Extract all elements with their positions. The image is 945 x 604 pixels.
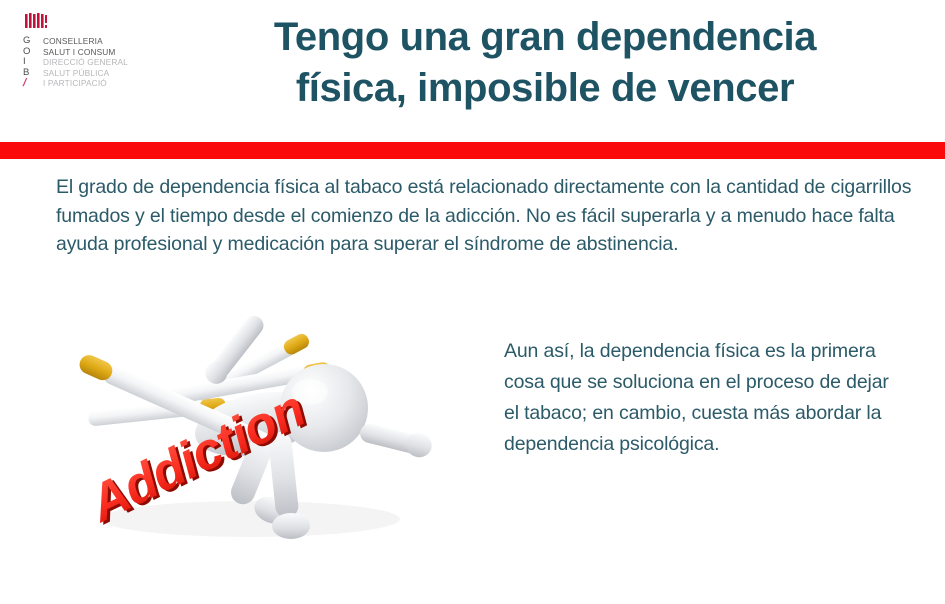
header-divider-rule <box>0 142 945 159</box>
logo-line-conselleria: CONSELLERIA <box>43 36 128 47</box>
logo-department-lines: CONSELLERIA SALUT I CONSUM DIRECCIÓ GENE… <box>43 36 128 89</box>
logo-slash-icon: / <box>22 78 41 89</box>
logo-line-salut-publica: SALUT PÚBLICA <box>43 68 128 79</box>
intro-paragraph: El grado de dependencia física al tabaco… <box>56 173 918 259</box>
goib-logo: G O I B / CONSELLERIA SALUT I CONSUM DIR… <box>18 10 153 95</box>
logo-line-direccio-general: DIRECCIÓ GENERAL <box>43 57 128 68</box>
logo-text-block: G O I B / CONSELLERIA SALUT I CONSUM DIR… <box>18 36 128 89</box>
figure-right-arm <box>358 419 435 460</box>
logo-line-i-participacio: I PARTICIPACIÓ <box>43 78 128 89</box>
side-paragraph-text: Aun así, la dependencia física es la pri… <box>504 336 894 460</box>
logo-initial-g: G <box>23 36 39 47</box>
intro-paragraph-text: El grado de dependencia física al tabaco… <box>56 173 918 259</box>
page-title-line-1: Tengo una gran dependencia <box>155 12 935 63</box>
page-title-line-2: física, imposible de vencer <box>155 63 935 114</box>
side-paragraph: Aun así, la dependencia física es la pri… <box>504 336 894 460</box>
addiction-cigarettes-figure-illustration: Addiction Addiction <box>60 314 435 554</box>
main-content: El grado de dependencia física al tabaco… <box>0 159 945 604</box>
page-title: Tengo una gran dependencia física, impos… <box>155 12 935 114</box>
balearic-crest-icon <box>24 13 50 35</box>
page-header: G O I B / CONSELLERIA SALUT I CONSUM DIR… <box>0 0 945 142</box>
logo-line-salut-i-consum: SALUT I CONSUM <box>43 47 128 58</box>
logo-initials: G O I B / <box>23 36 39 89</box>
